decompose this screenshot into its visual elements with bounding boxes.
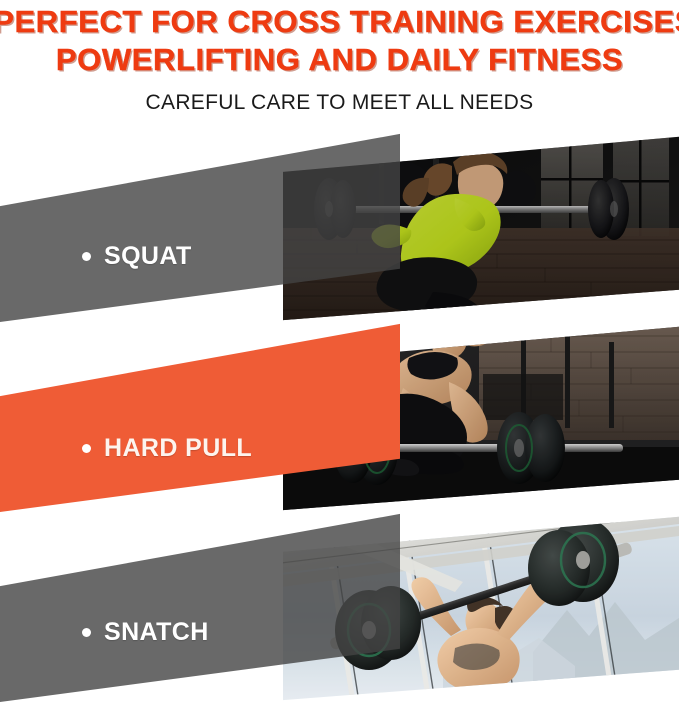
subheadline: CAREFUL CARE TO MEET ALL NEEDS: [0, 90, 679, 116]
feature-row-snatch: SNATCH: [0, 512, 679, 702]
header-block: PERFECT FOR CROSS TRAINING EXERCISES POW…: [0, 0, 679, 116]
band-hard-pull-shape: [0, 322, 400, 512]
headline-line-1: PERFECT FOR CROSS TRAINING EXERCISES: [0, 4, 679, 40]
band-snatch-shape: [0, 512, 400, 702]
feature-row-squat: SQUAT: [0, 132, 679, 322]
feature-row-hard-pull: HARD PULL: [0, 322, 679, 512]
round-bullet-icon: [82, 252, 91, 261]
band-squat-shape: [0, 132, 400, 322]
panel-label-snatch: SNATCH: [82, 618, 209, 647]
round-bullet-icon: [82, 444, 91, 453]
panel-label-snatch-text: SNATCH: [104, 618, 209, 647]
band-hard-pull: HARD PULL: [0, 322, 400, 512]
band-snatch: SNATCH: [0, 512, 400, 702]
round-bullet-icon: [82, 628, 91, 637]
headline-line-2: POWERLIFTING AND DAILY FITNESS: [0, 42, 679, 78]
band-squat: SQUAT: [0, 132, 400, 322]
panel-label-squat-text: SQUAT: [104, 242, 192, 271]
panel-label-hard-pull-text: HARD PULL: [104, 434, 252, 463]
panel-label-squat: SQUAT: [82, 242, 192, 271]
product-feature-infographic: PERFECT FOR CROSS TRAINING EXERCISES POW…: [0, 0, 679, 722]
panel-label-hard-pull: HARD PULL: [82, 434, 252, 463]
